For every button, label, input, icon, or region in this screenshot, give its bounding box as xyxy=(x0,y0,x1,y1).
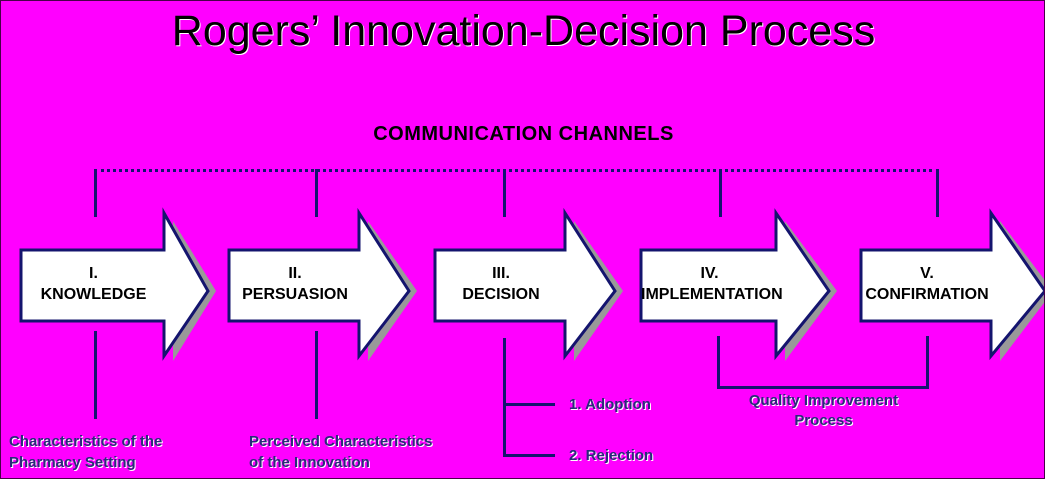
stage-arrow-confirmation[interactable]: V. CONFIRMATION xyxy=(861,213,1045,357)
connector-decision-rejection xyxy=(503,454,555,457)
annotation-adoption: 1. Adoption xyxy=(569,395,651,415)
connector-decision-adoption xyxy=(503,403,555,406)
connector-qip-right xyxy=(926,336,929,388)
channel-drop-decision xyxy=(503,169,506,217)
diagram-canvas: Rogers’ Innovation-Decision Process COMM… xyxy=(0,0,1045,479)
annotation-rejection: 2. Rejection xyxy=(569,446,653,466)
arrow-body-persuasion xyxy=(229,213,429,363)
annotation-line-1: Quality Improvement xyxy=(749,392,898,409)
arrow-body-knowledge xyxy=(21,213,221,363)
connector-decision-spine xyxy=(503,338,506,456)
connector-persuasion-factors xyxy=(315,331,318,419)
arrow-body-implementation xyxy=(641,213,851,363)
annotation-persuasion-factors: Perceived Characteristics of the Innovat… xyxy=(249,431,489,473)
connector-qip-bottom xyxy=(717,386,929,389)
page-title: Rogers’ Innovation-Decision Process xyxy=(1,5,1045,57)
channel-drop-confirmation xyxy=(936,169,939,217)
stage-arrow-persuasion[interactable]: II. PERSUASION xyxy=(229,213,419,357)
channel-drop-persuasion xyxy=(315,169,318,217)
annotation-knowledge-factors: Characteristics of the Pharmacy Setting xyxy=(9,431,219,473)
stage-arrow-decision[interactable]: III. DECISION xyxy=(435,213,625,357)
stage-arrow-knowledge[interactable]: I. KNOWLEDGE xyxy=(21,213,211,357)
annotation-quality-improvement-process: Quality Improvement Process xyxy=(701,391,946,431)
communication-channels-heading: COMMUNICATION CHANNELS xyxy=(1,121,1045,147)
annotation-line-2: of the Innovation xyxy=(249,454,370,471)
communication-channels-rail xyxy=(94,169,939,172)
annotation-line-1: Characteristics of the xyxy=(9,433,162,450)
annotation-line-1: Perceived Characteristics xyxy=(249,433,432,450)
channel-drop-implementation xyxy=(719,169,722,217)
channel-drop-knowledge xyxy=(94,169,97,217)
connector-qip-left xyxy=(717,336,720,388)
connector-knowledge-factors xyxy=(94,331,97,419)
annotation-line-2: Process xyxy=(794,412,852,429)
arrow-body-confirmation xyxy=(861,213,1045,363)
annotation-line-2: Pharmacy Setting xyxy=(9,454,136,471)
arrow-body-decision xyxy=(435,213,635,363)
stage-arrow-implementation[interactable]: IV. IMPLEMENTATION xyxy=(641,213,841,357)
